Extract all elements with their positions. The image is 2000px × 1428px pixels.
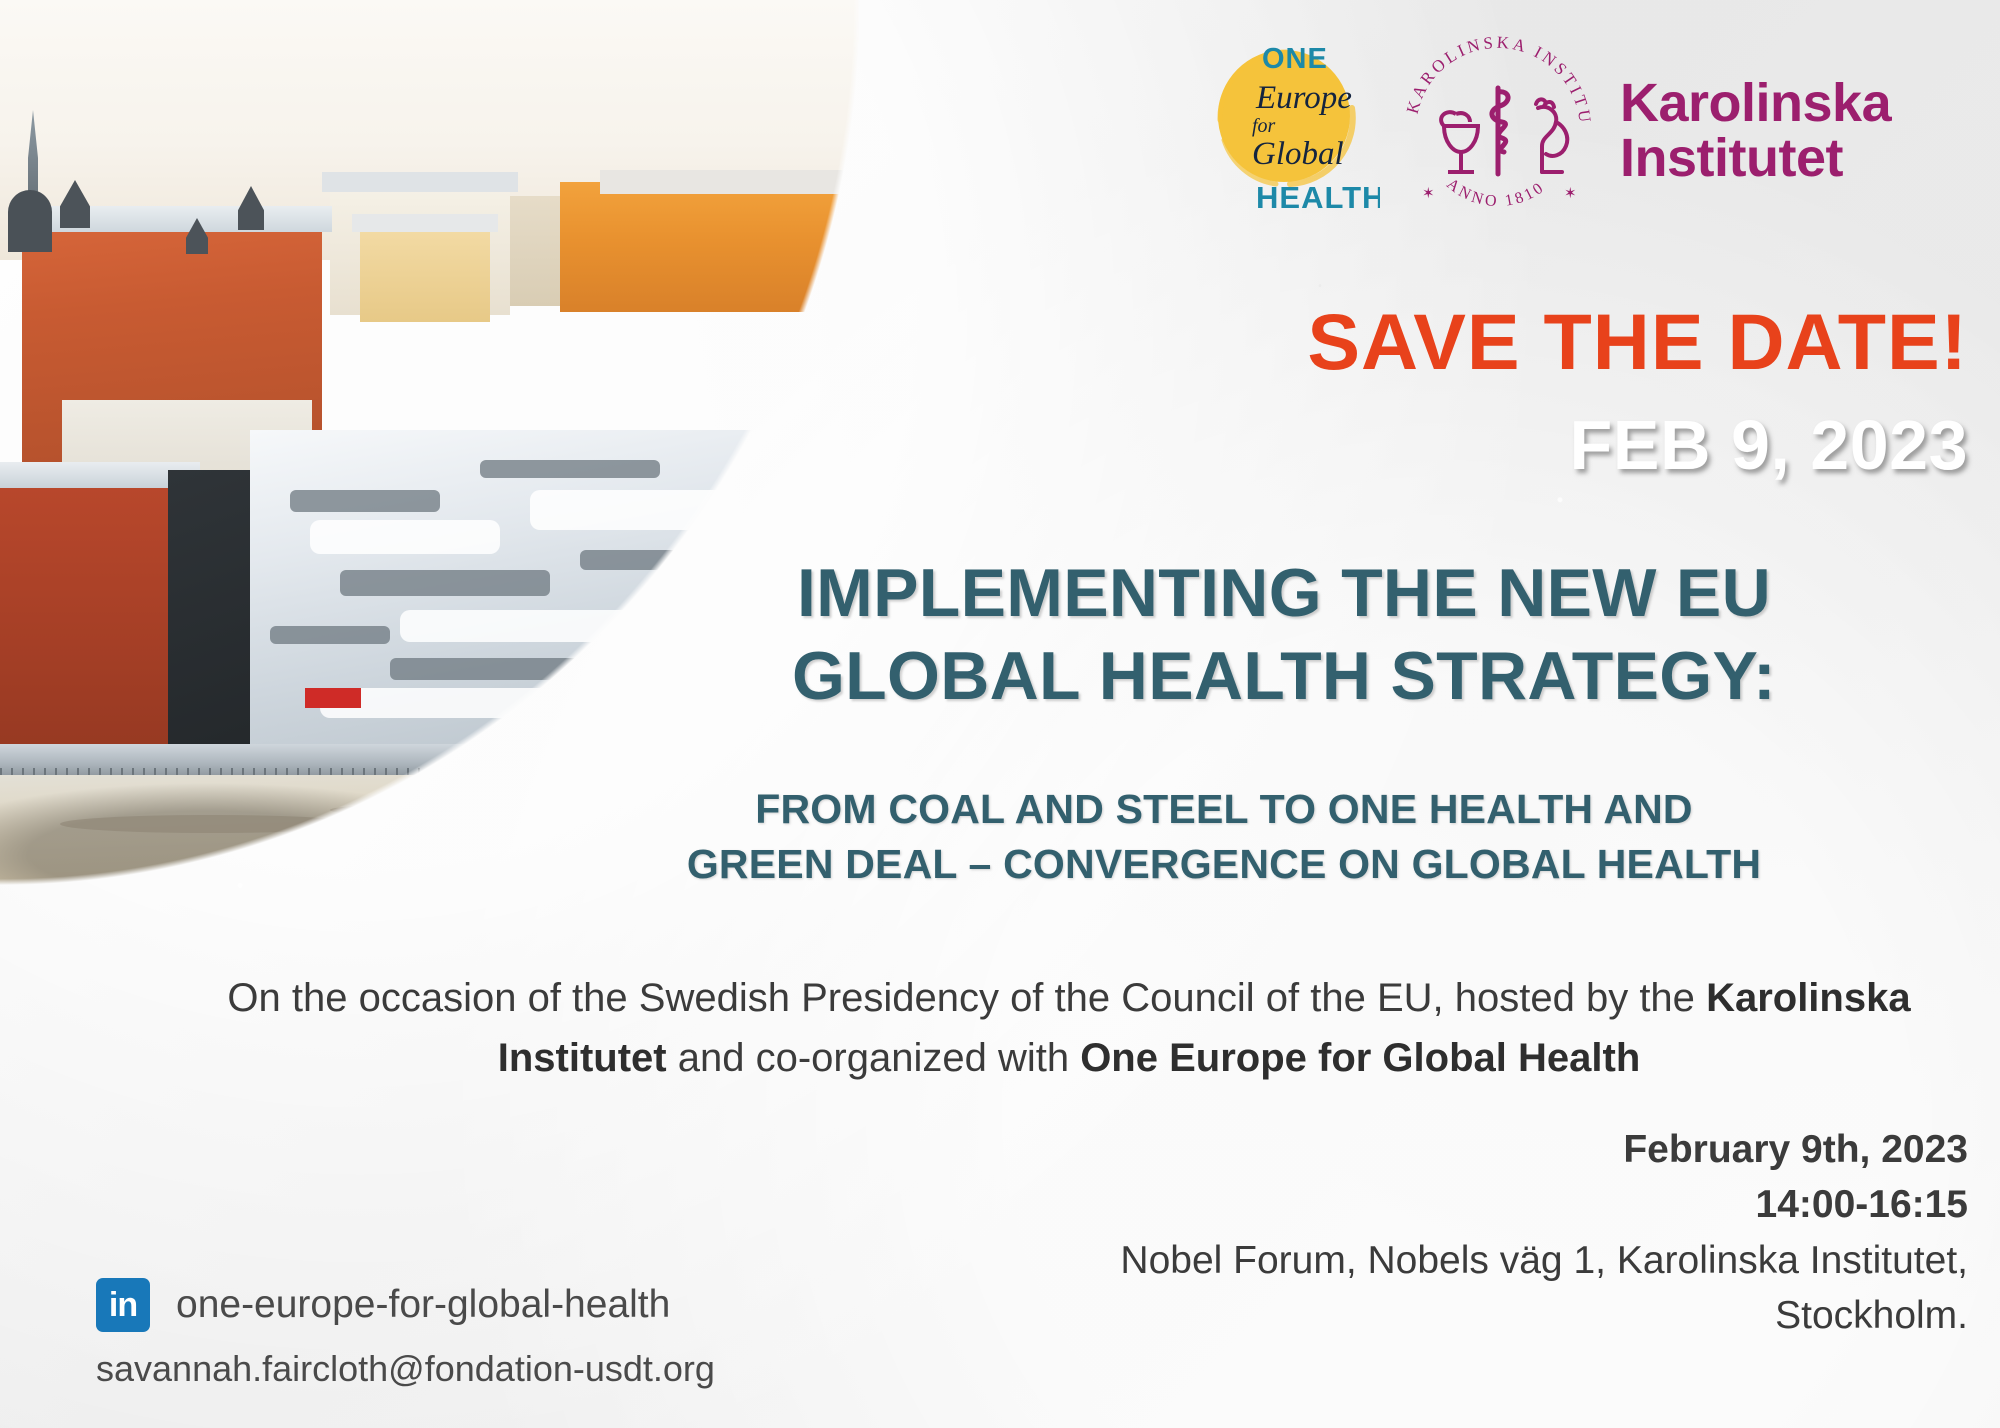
photo-building-orange-row bbox=[560, 182, 865, 312]
svg-text:HEALTH: HEALTH bbox=[1256, 180, 1380, 215]
linkedin-row[interactable]: in one-europe-for-global-health bbox=[96, 1278, 715, 1332]
ki-wordmark-line1: Karolinska bbox=[1620, 76, 1891, 131]
occasion-paragraph: On the occasion of the Swedish Presidenc… bbox=[170, 968, 1968, 1088]
save-the-date-poster: ONE Europe for Global HEALTH KAROLINSKA … bbox=[0, 0, 2000, 1428]
photo-building-yellow bbox=[360, 226, 490, 322]
subtitle-line-1: FROM COAL AND STEEL TO ONE HEALTH AND bbox=[480, 782, 1968, 837]
svg-text:for: for bbox=[1252, 115, 1276, 137]
stockholm-winter-waterfront-photo bbox=[0, 0, 865, 890]
page-title: IMPLEMENTING THE NEW EU GLOBAL HEALTH ST… bbox=[600, 552, 1968, 718]
svg-text:Global: Global bbox=[1252, 136, 1344, 172]
event-time: 14:00-16:15 bbox=[918, 1177, 1968, 1232]
contact-block: in one-europe-for-global-health savannah… bbox=[96, 1278, 715, 1390]
save-the-date-headline: SAVE THE DATE! bbox=[1307, 302, 1968, 381]
photo-snow-roof-right bbox=[600, 170, 850, 194]
linkedin-icon[interactable]: in bbox=[96, 1278, 150, 1332]
event-details: February 9th, 2023 14:00-16:15 Nobel For… bbox=[918, 1122, 1968, 1344]
photo-snow-roof-yellow bbox=[352, 214, 498, 232]
title-line-2: GLOBAL HEALTH STRATEGY: bbox=[600, 635, 1968, 718]
page-subtitle: FROM COAL AND STEEL TO ONE HEALTH AND GR… bbox=[480, 782, 1968, 893]
event-venue-line-1: Nobel Forum, Nobels väg 1, Karolinska In… bbox=[918, 1233, 1968, 1288]
occasion-text-part2: and co-organized with bbox=[667, 1036, 1081, 1080]
svg-text:ANNO 1810: ANNO 1810 bbox=[1443, 175, 1548, 210]
karolinska-institutet-seal: KAROLINSKA INSTITUTET ANNO 1810 ✶ ✶ bbox=[1398, 30, 1598, 220]
date-badge: FEB 9, 2023 bbox=[1570, 410, 1969, 480]
contact-email[interactable]: savannah.faircloth@fondation-usdt.org bbox=[96, 1348, 715, 1390]
event-date: February 9th, 2023 bbox=[918, 1122, 1968, 1177]
svg-text:✶: ✶ bbox=[1564, 185, 1577, 202]
ki-wordmark-line2: Institutet bbox=[1620, 131, 1891, 186]
event-venue-line-2: Stockholm. bbox=[918, 1288, 1968, 1343]
photo-snow-roof-mid bbox=[322, 172, 518, 192]
svg-text:ONE: ONE bbox=[1262, 43, 1328, 75]
one-europe-for-global-health-logo: ONE Europe for Global HEALTH bbox=[1200, 28, 1380, 218]
occasion-text-part1: On the occasion of the Swedish Presidenc… bbox=[227, 976, 1695, 1020]
svg-text:✶: ✶ bbox=[1422, 185, 1435, 202]
subtitle-line-2: GREEN DEAL – CONVERGENCE ON GLOBAL HEALT… bbox=[480, 837, 1968, 892]
occasion-coorganizer: One Europe for Global Health bbox=[1080, 1036, 1640, 1080]
svg-text:Europe: Europe bbox=[1255, 80, 1352, 116]
karolinska-institutet-wordmark: Karolinska Institutet bbox=[1620, 76, 1891, 186]
photo-red-sign bbox=[305, 688, 361, 708]
photo-railing bbox=[0, 768, 865, 775]
photo-tower-dome bbox=[8, 190, 52, 252]
title-line-1: IMPLEMENTING THE NEW EU bbox=[600, 552, 1968, 635]
linkedin-handle[interactable]: one-europe-for-global-health bbox=[176, 1283, 670, 1327]
